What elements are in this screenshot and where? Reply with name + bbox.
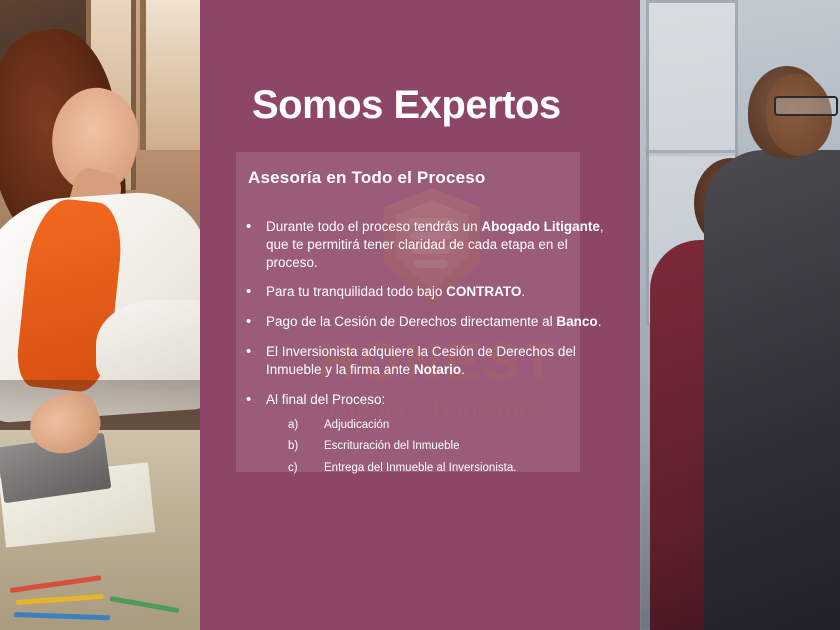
bullet-item: Durante todo el proceso tendrás un Aboga…	[240, 218, 620, 271]
bullet-item: El Inversionista adquiere la Cesión de D…	[240, 343, 620, 379]
bullet-text: Para tu tranquilidad todo bajo	[266, 284, 446, 299]
bullet-emphasis: Notario	[414, 362, 461, 377]
right-photo-man-glasses	[774, 96, 838, 116]
slide-canvas: Somos Expertos HONEST Créditos bancarios…	[0, 0, 840, 630]
right-photo-window-upper	[646, 0, 738, 156]
list-item: c)Entrega del Inmueble al Inversionista.	[266, 458, 620, 480]
list-item: a)Adjudicación	[266, 415, 620, 437]
content-panel: Somos Expertos HONEST Créditos bancarios…	[200, 0, 640, 630]
list-item: b)Escrituración del Inmueble	[266, 436, 620, 458]
bullet-text: Pago de la Cesión de Derechos directamen…	[266, 314, 556, 329]
left-photo-person-arm	[96, 300, 200, 390]
list-item-marker: a)	[288, 415, 298, 437]
right-photo	[640, 0, 840, 630]
left-photo-window-frame-secondary	[140, 0, 200, 150]
bullet-emphasis: CONTRATO	[446, 284, 521, 299]
list-item-label: Entrega del Inmueble al Inversionista.	[324, 462, 516, 474]
bullet-list: Durante todo el proceso tendrás un Aboga…	[240, 218, 620, 492]
bullet-item: Al final del Proceso:a)Adjudicaciónb)Esc…	[240, 391, 620, 480]
list-item-marker: b)	[288, 436, 298, 458]
bullet-text: Durante todo el proceso tendrás un	[266, 219, 481, 234]
bullet-sublist: a)Adjudicaciónb)Escrituración del Inmueb…	[266, 415, 620, 481]
bullet-text: Al final del Proceso:	[266, 392, 385, 407]
bullet-emphasis: Abogado Litigante	[481, 219, 600, 234]
bullet-text: .	[461, 362, 465, 377]
page-title: Somos Expertos	[252, 84, 632, 126]
left-photo	[0, 0, 200, 630]
right-photo-man-jacket	[704, 150, 840, 630]
bullet-emphasis: Banco	[556, 314, 597, 329]
bullet-item: Pago de la Cesión de Derechos directamen…	[240, 313, 620, 331]
list-item-label: Adjudicación	[324, 419, 389, 431]
bullet-text: .	[598, 314, 602, 329]
bullet-item: Para tu tranquilidad todo bajo CONTRATO.	[240, 283, 620, 301]
section-subtitle: Asesoría en Todo el Proceso	[248, 168, 486, 188]
list-item-label: Escrituración del Inmueble	[324, 440, 460, 452]
bullet-text: .	[521, 284, 525, 299]
list-item-marker: c)	[288, 458, 298, 480]
